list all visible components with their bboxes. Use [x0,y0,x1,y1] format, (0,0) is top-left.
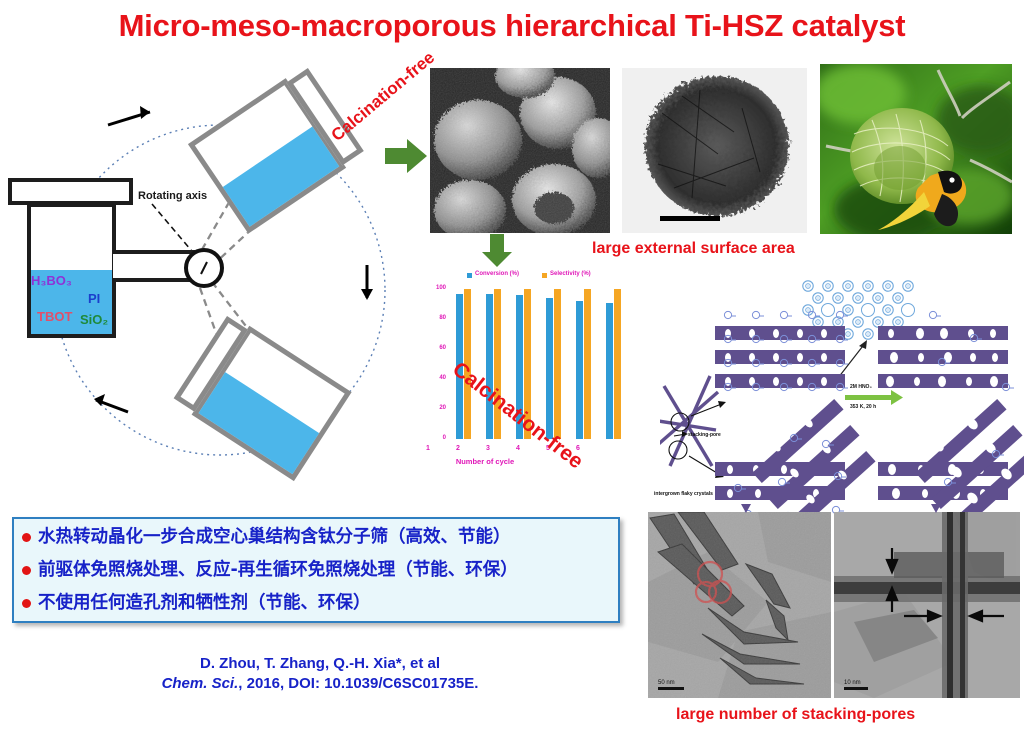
legend-label-conversion: Conversion (%) [475,271,519,277]
citation-authors: D. Zhou, T. Zhang, Q.-H. Xia*, et al [10,655,630,672]
label-stacking-pore: stacking-pore [688,432,721,438]
tem-hollow-nest-particle [622,68,807,233]
bar-selectivity-4 [554,289,561,439]
hub-tick-icon [196,260,214,278]
highlight-item-1: 水热转动晶化一步合成空心巢结构含钛分子筛（高效、节能） [14,521,618,554]
y-tick-80: 80 [428,315,446,321]
highlight-item-2: 前驱体免照烧处理、反应-再生循环免照烧处理（节能、环保） [14,554,618,587]
citation-journal: Chem. Sci. [162,675,239,692]
bar-conversion-5 [576,301,583,439]
bar-selectivity-5 [584,289,591,439]
rotating-axis-label: Rotating axis [138,190,207,202]
y-tick-20: 20 [428,405,446,411]
x-tick-1: 1 [420,445,436,452]
green-arrow-right-icon [385,137,429,177]
x-tick-2: 2 [450,445,466,452]
legend-swatch-conversion [467,273,472,278]
weaver-bird-nest-photo [820,64,1012,234]
label-intergrown-flaky-crystals: intergrown flaky crystals [654,491,713,497]
legend-swatch-selectivity [542,273,547,278]
tem-stacking-pores-right: 10 nm [834,512,1020,698]
reagent-label-h3bo3: H₃BO₃ [31,273,72,288]
citation-journal-line: Chem. Sci., 2016, DOI: 10.1039/C6SC01735… [10,675,630,692]
sem-hollow-spheres [430,68,610,233]
highlight-text-3: 不使用任何造孔剂和牺性剂（节能、环保） [38,593,371,613]
label-acid-conditions: 353 K, 20 h [850,404,876,410]
bullet-icon [22,566,31,575]
y-tick-0: 0 [428,435,446,441]
bullet-icon [22,599,31,608]
highlight-text-1: 水热转动晶化一步合成空心巢结构含钛分子筛（高效、节能） [38,527,511,547]
label-acid-concentration: 2M HNO₃ [850,384,872,390]
reagent-label-pi: PI [88,291,100,306]
y-tick-100: 100 [428,285,446,291]
bar-conversion-6 [606,303,613,440]
tem-stacking-pores-left: 50 nm [648,512,831,698]
rotating-hydrothermal-crystallization-diagram: Rotating axis H₃BO₃ PI TBOT SiO₂ [0,70,420,510]
bar-conversion-4 [546,298,553,439]
legend-label-selectivity: Selectivity (%) [550,271,591,277]
highlights-box: 水热转动晶化一步合成空心巢结构含钛分子筛（高效、节能） 前驱体免照烧处理、反应-… [12,517,620,623]
marker-triangle-left-icon [740,503,752,515]
highlight-item-3: 不使用任何造孔剂和牺性剂（节能、环保） [14,587,618,620]
x-tick-3: 3 [480,445,496,452]
y-tick-40: 40 [428,375,446,381]
highlight-text-2: 前驱体免照烧处理、反应-再生循环免照烧处理（节能、环保） [38,560,518,580]
x-tick-4: 4 [510,445,526,452]
scale-bar-label-left: 50 nm [658,680,675,686]
chart-plot-area [452,289,642,439]
autoclave-shaft [113,250,195,282]
caption-surface-area: large external surface area [592,240,795,258]
bar-conversion-2 [486,294,493,440]
reagent-label-tbot: TBOT [37,309,72,324]
scale-bar-label-right: 10 nm [844,680,861,686]
oh-groups-bottom-right [882,416,1024,524]
page-title: Micro-meso-macroporous hierarchical Ti-H… [0,8,1024,44]
marker-triangle-right-icon [930,503,942,515]
oh-groups-top-left [715,308,851,404]
caption-stacking-pores: large number of stacking-pores [676,706,915,724]
bullet-icon [22,533,31,542]
bar-selectivity-6 [614,289,621,439]
y-tick-60: 60 [428,345,446,351]
green-arrow-down-icon [480,234,514,268]
reagent-label-sio2: SiO₂ [80,312,108,327]
oh-groups-top-right [878,308,1014,404]
citation-details: , 2016, DOI: 10.1039/C6SC01735E. [238,675,478,692]
autoclave-cap [8,178,133,205]
stacking-pore-formation-schematic: stacking-pore intergrown flaky crystals … [660,280,1024,510]
